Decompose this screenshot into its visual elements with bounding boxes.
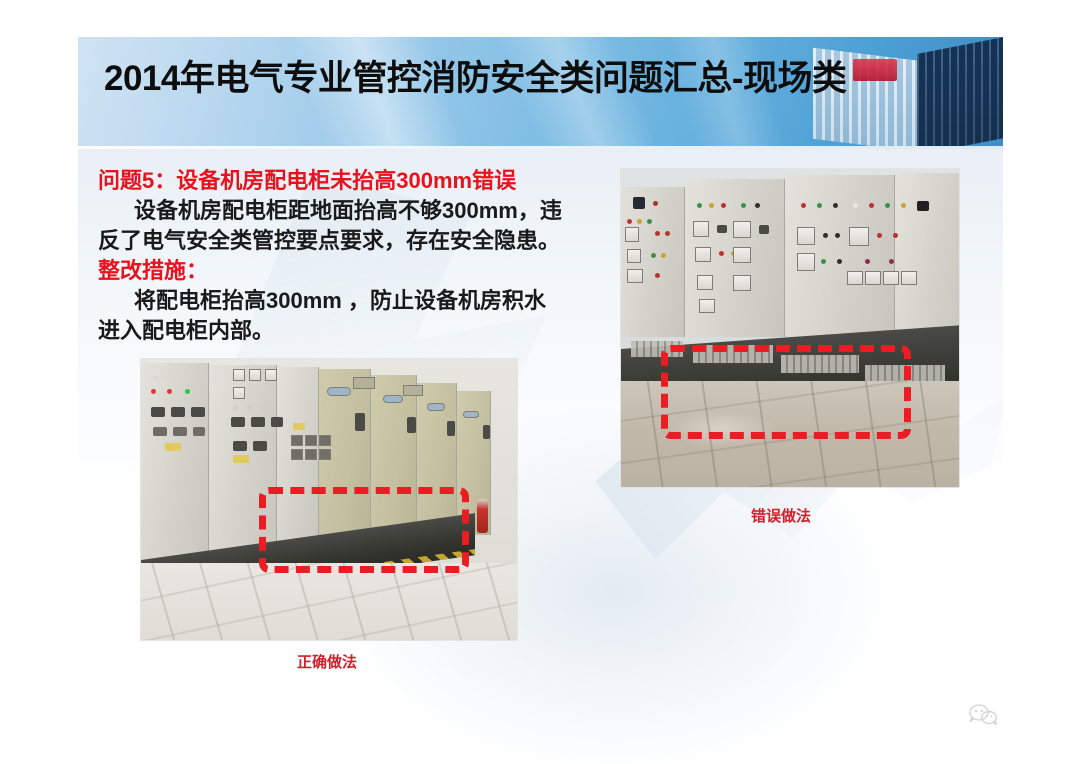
indicator-lamp xyxy=(247,405,252,410)
indicator-lamp xyxy=(661,253,666,258)
indicator-lamp xyxy=(833,203,838,208)
panel-meter xyxy=(733,221,751,238)
indicator-lamp xyxy=(665,231,670,236)
indicator-lamp xyxy=(901,203,906,208)
banner-underline xyxy=(78,146,1003,149)
indicator-lamp xyxy=(821,259,826,264)
rotary-switch xyxy=(759,225,769,234)
panel-meter xyxy=(797,253,815,271)
panel-meter xyxy=(233,387,245,399)
panel-meter xyxy=(733,275,751,291)
floor-tile-lines xyxy=(140,563,518,641)
panel-meter xyxy=(627,269,643,283)
indicator-lamp xyxy=(233,405,238,410)
indicator-lamp xyxy=(647,219,652,224)
panel-meter xyxy=(233,369,245,381)
panel-meter xyxy=(699,299,715,313)
problem-heading: 问题5：设备机房配电柜未抬高300mm错误 xyxy=(98,166,618,196)
panel-meter xyxy=(625,227,639,242)
measure-line-1: 将配电柜抬高300mm ，防止设备机房积水 xyxy=(98,286,618,316)
cabinet-nameplate xyxy=(403,385,423,396)
terminal-block xyxy=(193,427,205,436)
rotary-switch xyxy=(717,225,727,233)
breaker-handle xyxy=(233,441,247,451)
indicator-lamp xyxy=(177,375,182,380)
indicator-lamp xyxy=(151,389,156,394)
indicator-lamp xyxy=(835,233,840,238)
warning-label xyxy=(233,455,249,463)
presentation-slide: 2014年电气专业管控消防安全类问题汇总-现场类 问题5：设备机房配电柜未抬高3… xyxy=(78,0,1003,764)
indicator-lamp xyxy=(165,375,170,380)
indoor-floor xyxy=(140,563,518,641)
panel-meter xyxy=(697,275,713,290)
slide-body-text: 问题5：设备机房配电柜未抬高300mm错误 设备机房配电柜距地面抬高不够300m… xyxy=(98,166,618,346)
indicator-lamp xyxy=(651,253,656,258)
panel-button xyxy=(305,449,317,460)
caption-wrong-practice: 错误做法 xyxy=(751,505,811,526)
indicator-lamp xyxy=(885,203,890,208)
indicator-lamp xyxy=(653,201,658,206)
slide-header-banner: 2014年电气专业管控消防安全类问题汇总-现场类 xyxy=(78,37,1003,146)
caption-correct-practice: 正确做法 xyxy=(297,651,357,672)
indicator-lamp xyxy=(655,231,660,236)
cabinet-handle xyxy=(355,413,365,431)
panel-button xyxy=(291,449,303,460)
panel-meter xyxy=(265,369,277,381)
photo-wrong-practice[interactable] xyxy=(620,168,960,488)
panel-button xyxy=(305,435,317,446)
cabinet-handle xyxy=(483,425,490,439)
panel-button xyxy=(319,435,331,446)
indicator-lamp xyxy=(869,203,874,208)
highlight-box-correct xyxy=(259,487,469,573)
measure-line-2: 进入配电柜内部。 xyxy=(98,316,618,346)
breaker-handle xyxy=(191,407,205,417)
indicator-lamp xyxy=(721,203,726,208)
indicator-lamp xyxy=(853,203,858,208)
indicator-lamp xyxy=(167,389,172,394)
breaker-handle xyxy=(251,417,265,427)
indicator-lamp xyxy=(837,259,842,264)
indicator-lamp xyxy=(823,233,828,238)
photo-correct-practice[interactable] xyxy=(140,358,518,641)
indicator-lamp xyxy=(817,203,822,208)
cabinet-breaker-box xyxy=(633,197,645,209)
terminal-block xyxy=(153,427,167,436)
cabinet-nameplate xyxy=(353,377,375,389)
panel-meter xyxy=(733,247,751,263)
indicator-lamp xyxy=(655,273,660,278)
panel-meter xyxy=(883,271,899,285)
indicator-lamp xyxy=(261,405,266,410)
breaker-handle xyxy=(171,407,185,417)
indicator-lamp xyxy=(185,389,190,394)
breaker-handle xyxy=(253,441,267,451)
panel-button xyxy=(319,449,331,460)
rotary-switch xyxy=(917,201,929,211)
indicator-lamp xyxy=(877,233,882,238)
indicator-lamp xyxy=(865,259,870,264)
panel-meter xyxy=(849,227,869,246)
panel-meter xyxy=(695,247,711,262)
indicator-lamp xyxy=(637,219,642,224)
breaker-handle xyxy=(231,417,245,427)
breaker-handle xyxy=(271,417,283,427)
panel-meter xyxy=(847,271,863,285)
cabinet-handle xyxy=(447,421,455,436)
warning-label xyxy=(293,423,305,430)
indicator-lamp xyxy=(889,259,894,264)
indicator-lamp xyxy=(697,203,702,208)
panel-meter xyxy=(693,221,709,237)
panel-meter xyxy=(249,369,261,381)
indicator-lamp xyxy=(709,203,714,208)
fire-extinguisher xyxy=(477,499,488,533)
problem-line-2: 反了电气安全类管控要点要求，存在安全隐患。 xyxy=(98,226,618,256)
cabinet-w4 xyxy=(895,173,960,337)
panel-meter xyxy=(901,271,917,285)
indicator-lamp xyxy=(801,203,806,208)
panel-meter xyxy=(797,227,815,245)
panel-meter xyxy=(865,271,881,285)
indicator-lamp xyxy=(627,219,632,224)
wechat-icon xyxy=(968,703,998,727)
terminal-block xyxy=(173,427,187,436)
measure-heading: 整改措施： xyxy=(98,256,618,286)
indicator-lamp xyxy=(893,233,898,238)
indicator-lamp xyxy=(755,203,760,208)
problem-line-1: 设备机房配电柜距地面抬高不够300mm，违 xyxy=(98,196,618,226)
page-title: 2014年电气专业管控消防安全类问题汇总-现场类 xyxy=(104,61,964,96)
panel-button xyxy=(291,435,303,446)
panel-meter xyxy=(627,249,641,263)
cabinet-badge xyxy=(427,403,445,411)
watermark: 机电人脉 xyxy=(968,700,1003,730)
indicator-lamp xyxy=(719,251,724,256)
cabinet-handle xyxy=(407,417,416,433)
warning-label xyxy=(165,443,181,451)
highlight-box-wrong xyxy=(661,345,911,439)
breaker-handle xyxy=(151,407,165,417)
cabinet-badge xyxy=(383,395,403,403)
indicator-lamp xyxy=(153,375,158,380)
cabinet-badge xyxy=(327,387,351,396)
indicator-lamp xyxy=(741,203,746,208)
cabinet-badge xyxy=(463,411,479,418)
